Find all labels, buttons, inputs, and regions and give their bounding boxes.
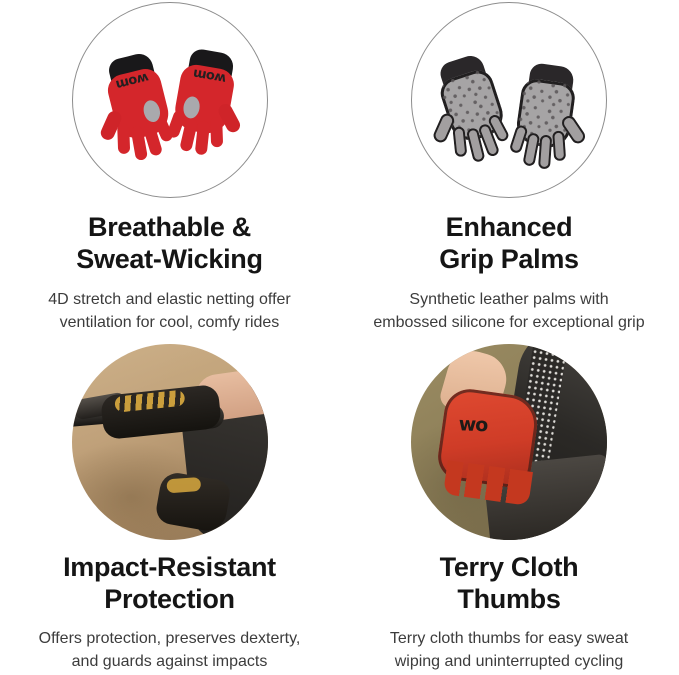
glove-right xyxy=(506,50,593,155)
red-glove-wiping-sweat-photo: wo xyxy=(411,344,607,540)
feature-card-enhanced-grip-palms: Enhanced Grip Palms Synthetic leather pa… xyxy=(339,0,679,340)
feature-heading: Enhanced Grip Palms xyxy=(431,212,587,275)
feature-card-breathable-sweat-wicking: wom wom Breathable & Sweat-Wicking 4D st… xyxy=(0,0,339,340)
glove-finger xyxy=(552,130,566,161)
glove-finger xyxy=(210,117,223,147)
gloved-hand-on-handlebar-photo xyxy=(72,344,268,540)
glove-finger xyxy=(117,124,130,154)
trail-background xyxy=(72,344,268,540)
feature-heading: Breathable & Sweat-Wicking xyxy=(68,212,270,275)
feature-card-impact-resistant-protection: Impact-Resistant Protection Offers prote… xyxy=(0,340,339,675)
feature-description: Terry cloth thumbs for easy sweat wiping… xyxy=(389,628,629,673)
red-cycling-gloves-pair-image: wom wom xyxy=(72,2,268,198)
glove-brand-logo: wo xyxy=(458,413,487,436)
glove-pair-illustration xyxy=(412,3,606,197)
glove-pair-illustration: wom wom xyxy=(73,3,267,197)
second-gloved-hand xyxy=(154,470,232,533)
gray-grip-palm-gloves-pair-image xyxy=(411,2,607,198)
feature-description: 4D stretch and elastic netting offer ven… xyxy=(47,289,292,334)
trail-background: wo xyxy=(411,344,607,540)
glove-left xyxy=(421,38,521,152)
feature-description: Synthetic leather palms with embossed si… xyxy=(372,289,645,334)
feature-heading: Terry Cloth Thumbs xyxy=(432,552,587,615)
feature-grid: wom wom Breathable & Sweat-Wicking 4D st… xyxy=(0,0,679,675)
feature-description: Offers protection, preserves dexterty, a… xyxy=(38,628,302,673)
glove-finger xyxy=(538,135,552,170)
glove-right: wom xyxy=(163,35,253,142)
feature-card-terry-cloth-thumbs: wo Terry Cloth Thumbs Terry cloth thumbs… xyxy=(339,340,679,675)
feature-heading: Impact-Resistant Protection xyxy=(55,552,284,615)
